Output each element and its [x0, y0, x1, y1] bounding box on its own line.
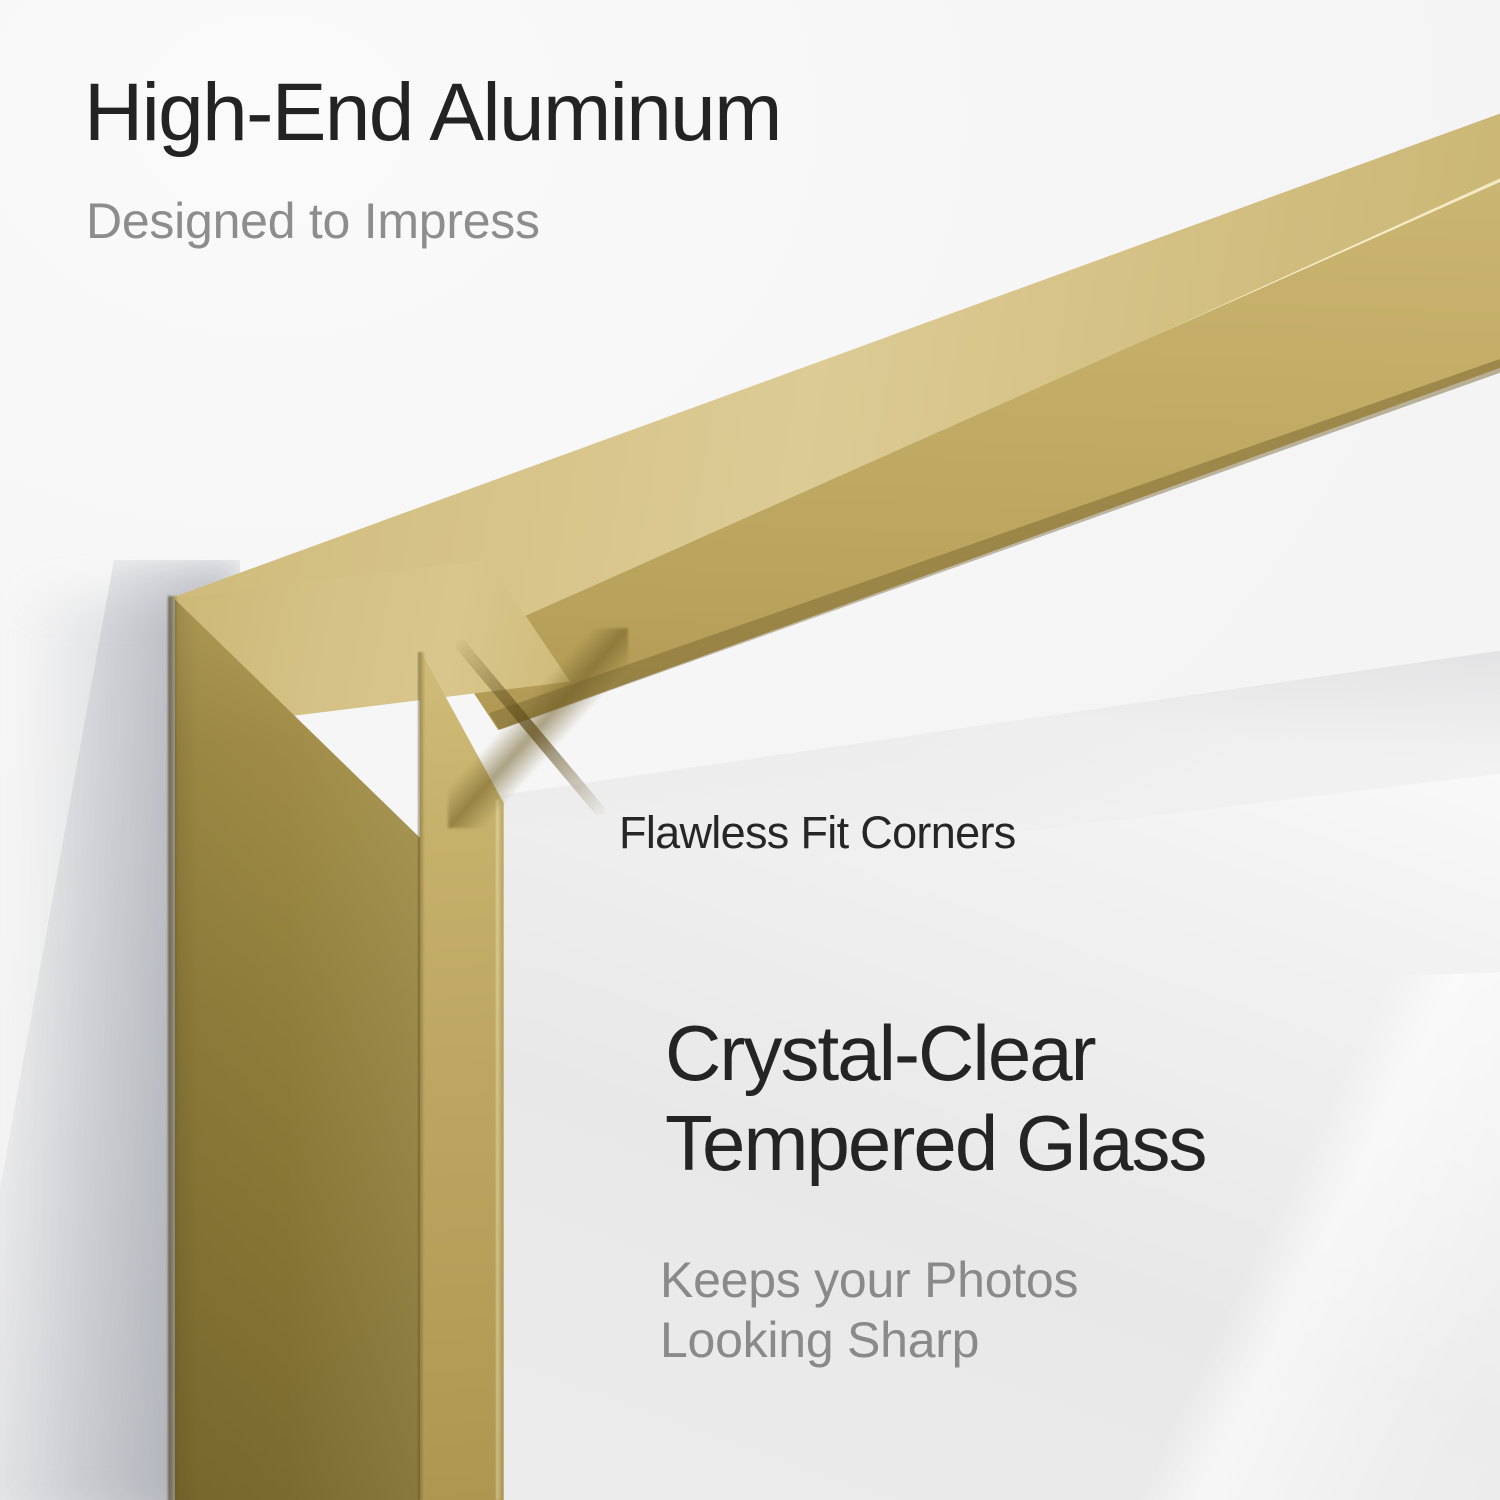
product-feature-image: High-End Aluminum Designed to Impress Fl… — [0, 0, 1500, 1500]
callout-glass-sub-line1: Keeps your Photos — [660, 1252, 1078, 1308]
frame-left-stile-inner-highlight — [496, 800, 503, 1500]
page-subtitle: Designed to Impress — [86, 196, 540, 246]
frame-left-stile-outer-edge — [168, 596, 177, 1500]
page-title: High-End Aluminum — [84, 72, 781, 154]
callout-glass-title-line2: Tempered Glass — [665, 1099, 1206, 1187]
callout-flawless-fit-corners: Flawless Fit Corners — [619, 810, 1016, 855]
callout-glass-subtitle: Keeps your Photos Looking Sharp — [660, 1250, 1078, 1370]
callout-glass-title: Crystal-Clear Tempered Glass — [665, 1008, 1206, 1189]
frame-left-stile-seam — [418, 652, 425, 1500]
callout-glass-sub-line2: Looking Sharp — [660, 1312, 979, 1368]
callout-glass-title-line1: Crystal-Clear — [665, 1009, 1095, 1097]
